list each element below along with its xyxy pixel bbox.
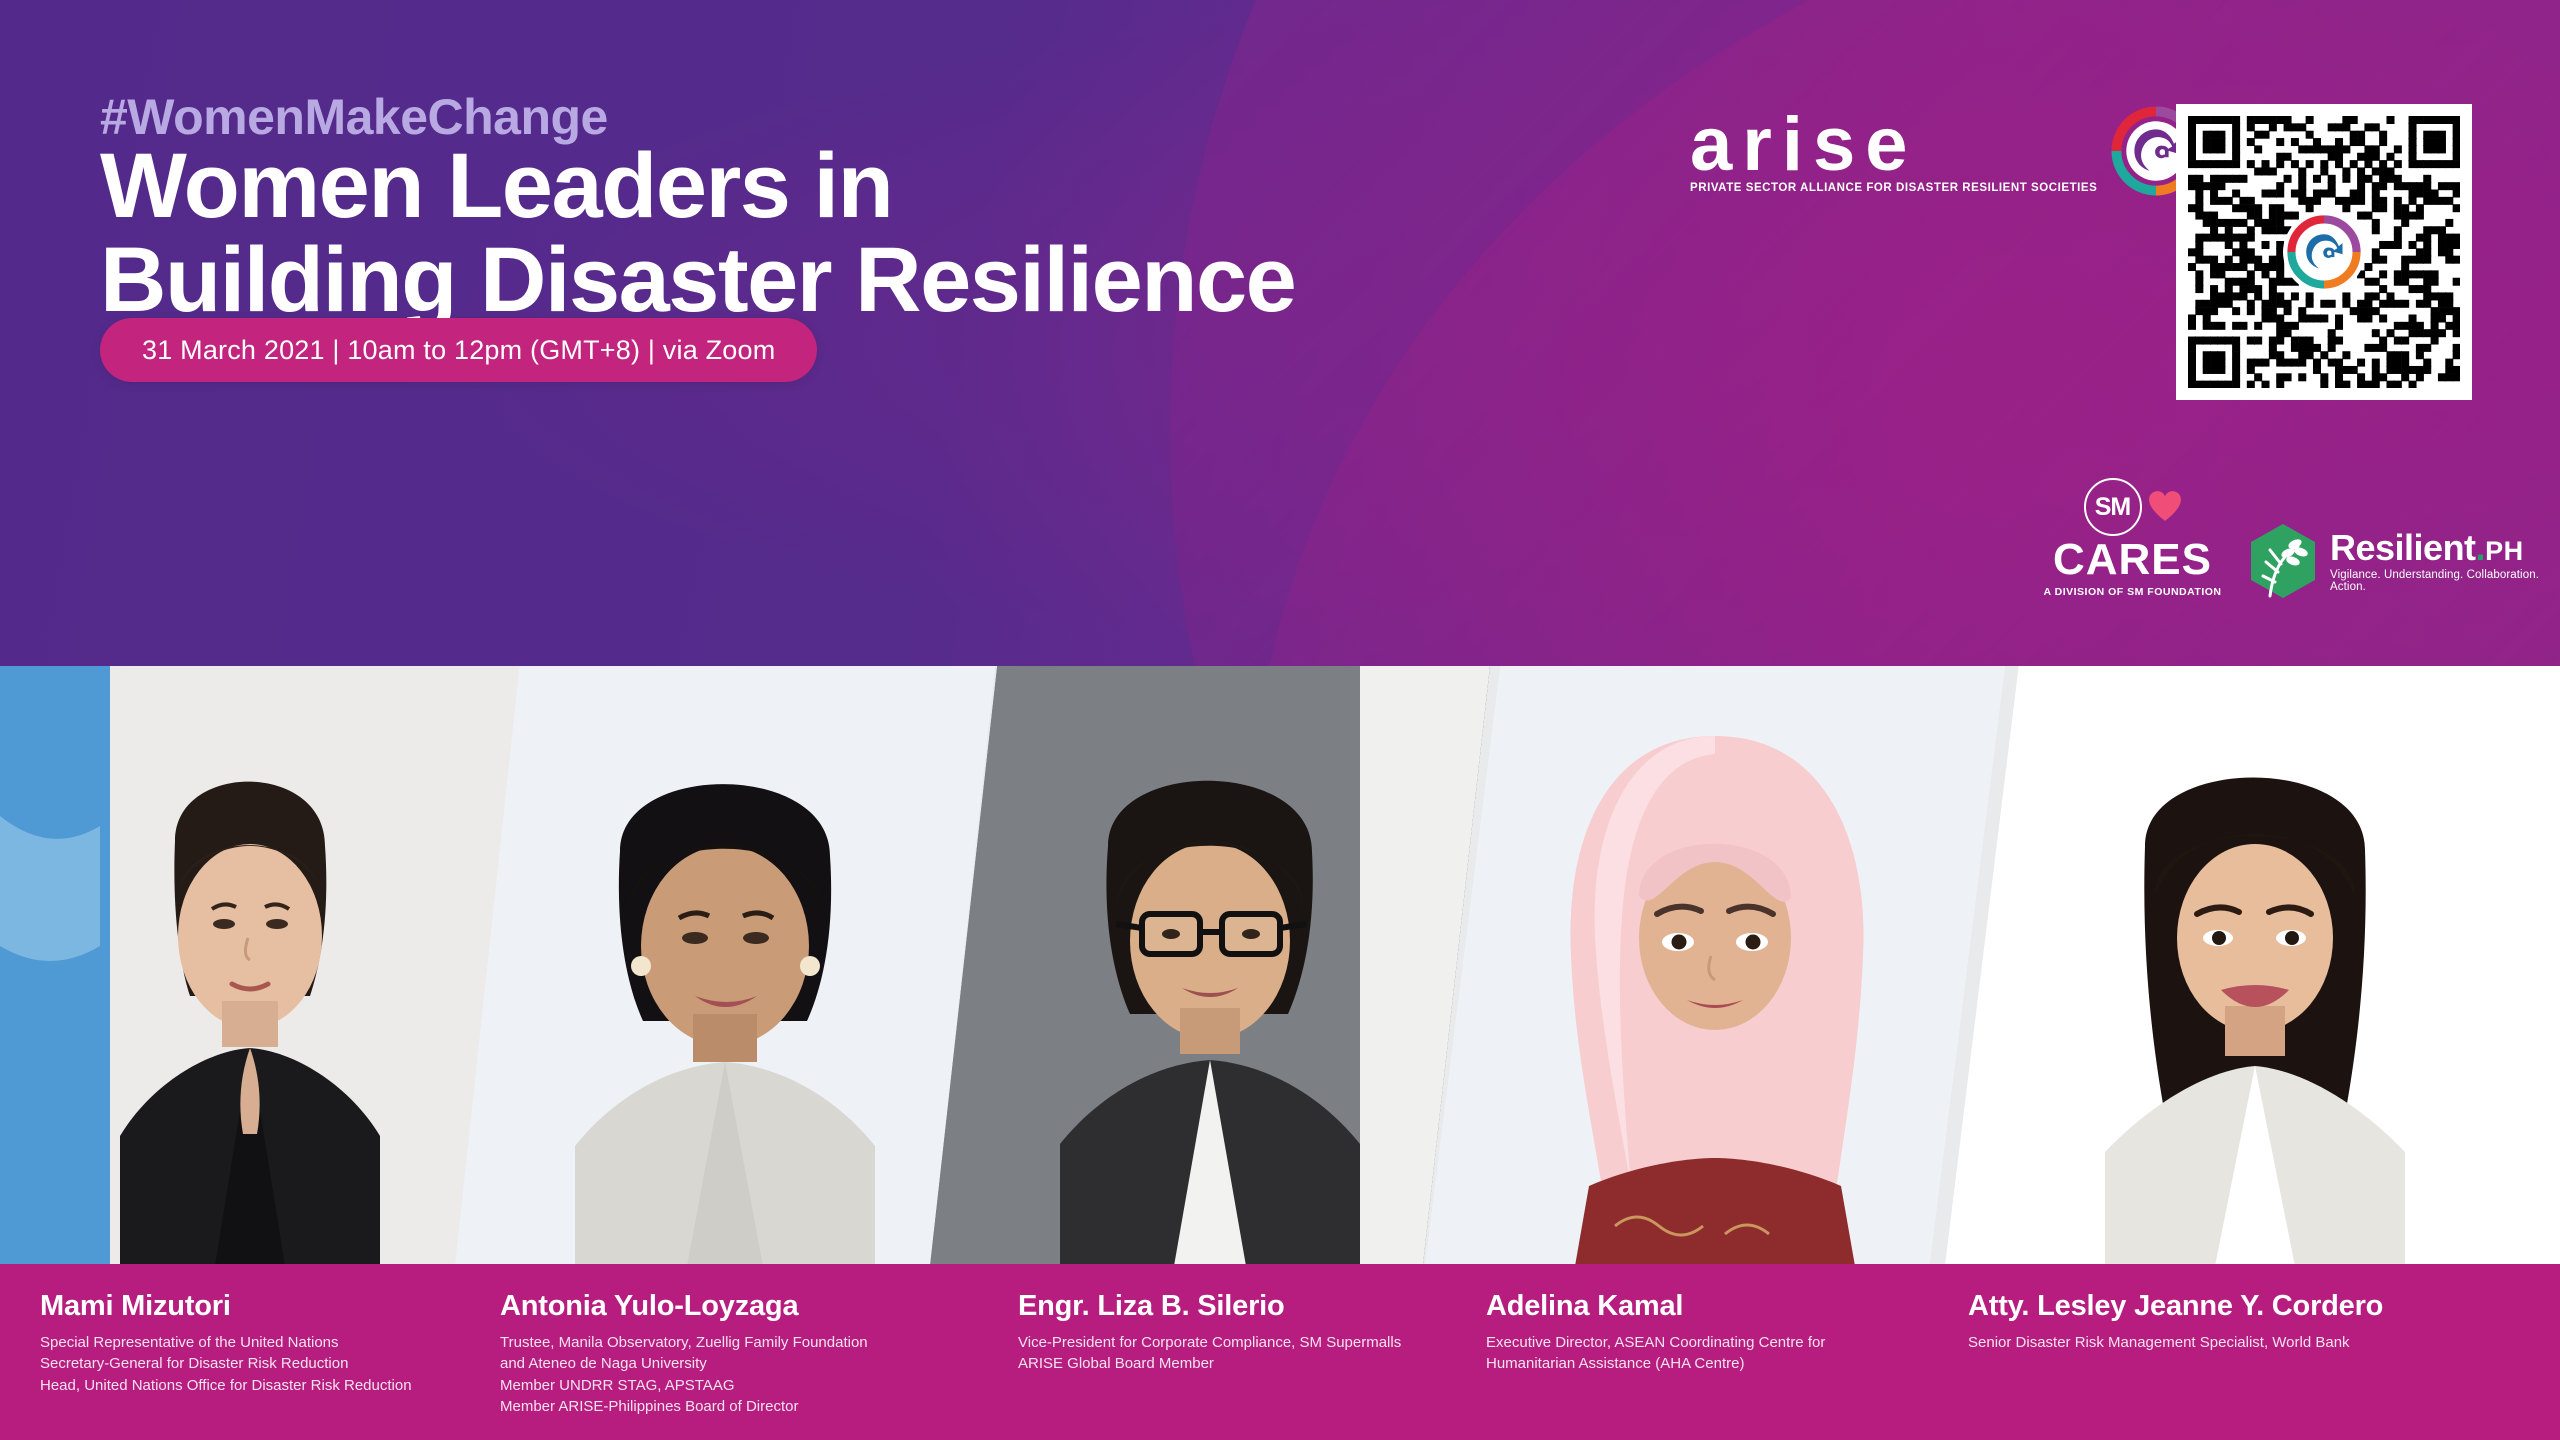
speaker-name: Antonia Yulo-Loyzaga (500, 1290, 950, 1323)
sm-monogram: SM (2084, 478, 2142, 536)
arise-tagline: PRIVATE SECTOR ALLIANCE FOR DISASTER RES… (1690, 182, 2097, 194)
speaker-photo-2 (455, 666, 995, 1266)
speaker-block-2: Antonia Yulo-Loyzaga Trustee, Manila Obs… (500, 1290, 950, 1417)
speaker-title-line: Special Representative of the United Nat… (40, 1332, 480, 1353)
title-line-2: Building Disaster Resilience (100, 234, 1295, 328)
speaker-title: Special Representative of the United Nat… (40, 1332, 480, 1396)
speaker-photo-1 (0, 666, 520, 1266)
speaker-title-line: Head, United Nations Office for Disaster… (40, 1375, 480, 1396)
speaker-block-5: Atty. Lesley Jeanne Y. Cordero Senior Di… (1968, 1290, 2528, 1353)
speaker-title: Trustee, Manila Observatory, Zuellig Fam… (500, 1332, 950, 1417)
hexagon-tree-icon (2248, 522, 2318, 600)
speaker-block-3: Engr. Liza B. Silerio Vice-President for… (1018, 1290, 1478, 1375)
resilient-dot: . (2476, 527, 2486, 568)
speaker-title-line: Executive Director, ASEAN Coordinating C… (1486, 1332, 1906, 1353)
poster-header: #WomenMakeChange Women Leaders in Buildi… (0, 0, 2560, 666)
speaker-photo-strip (0, 666, 2560, 1266)
speaker-title-line: Vice-President for Corporate Compliance,… (1018, 1332, 1478, 1353)
sm-cares-logo: SM CARES A DIVISION OF SM FOUNDATION (2040, 478, 2225, 598)
speaker-name: Atty. Lesley Jeanne Y. Cordero (1968, 1290, 2528, 1323)
qr-center-logo (2283, 211, 2365, 293)
speaker-title: Senior Disaster Risk Management Speciali… (1968, 1332, 2528, 1353)
resilient-ph-logo: Resilient.PH Vigilance. Understanding. C… (2248, 522, 2560, 600)
speaker-title-line: Member UNDRR STAG, APSTAAG (500, 1375, 950, 1396)
speaker-name: Adelina Kamal (1486, 1290, 1906, 1323)
arise-logo-text: arise (1690, 110, 2097, 180)
speaker-title-line: Senior Disaster Risk Management Speciali… (1968, 1332, 2528, 1353)
event-poster: #WomenMakeChange Women Leaders in Buildi… (0, 0, 2560, 1440)
speaker-title-line: ARISE Global Board Member (1018, 1353, 1478, 1374)
speaker-name-bar: Mami Mizutori Special Representative of … (0, 1264, 2560, 1440)
arise-wordmark: arise PRIVATE SECTOR ALLIANCE FOR DISAST… (1690, 100, 2097, 194)
sm-cares-subline: A DIVISION OF SM FOUNDATION (2040, 586, 2225, 598)
speaker-title: Vice-President for Corporate Compliance,… (1018, 1332, 1478, 1375)
resilient-ph-name: Resilient.PH (2330, 530, 2560, 566)
speaker-photo-3 (930, 666, 1490, 1266)
speaker-title-line: Humanitarian Assistance (AHA Centre) (1486, 1353, 1906, 1374)
resilient-ph-suffix: PH (2485, 536, 2524, 566)
speaker-title-line: Secretary-General for Disaster Risk Redu… (40, 1353, 480, 1374)
event-details-pill: 31 March 2021 | 10am to 12pm (GMT+8) | v… (100, 318, 817, 382)
speaker-photo-4 (1425, 666, 2005, 1266)
speaker-title-line: Trustee, Manila Observatory, Zuellig Fam… (500, 1332, 950, 1353)
sm-cares-word: CARES (2040, 538, 2225, 582)
speaker-block-1: Mami Mizutori Special Representative of … (40, 1290, 480, 1396)
resilient-ph-tagline: Vigilance. Understanding. Collaboration.… (2330, 569, 2560, 593)
speaker-name: Engr. Liza B. Silerio (1018, 1290, 1478, 1323)
qr-code-icon[interactable] (2176, 104, 2472, 400)
heart-icon (2148, 490, 2182, 524)
speaker-name: Mami Mizutori (40, 1290, 480, 1323)
speaker-title-line: Member ARISE-Philippines Board of Direct… (500, 1396, 950, 1417)
speaker-photo-5 (1945, 666, 2560, 1266)
title-line-1: Women Leaders in (100, 135, 892, 237)
resilient-word: Resilient (2330, 527, 2476, 568)
speaker-title: Executive Director, ASEAN Coordinating C… (1486, 1332, 1906, 1375)
speaker-title-line: and Ateneo de Naga University (500, 1353, 950, 1374)
speaker-block-4: Adelina Kamal Executive Director, ASEAN … (1486, 1290, 1906, 1375)
page-title: Women Leaders in Building Disaster Resil… (100, 140, 1295, 328)
arise-logo: arise PRIVATE SECTOR ALLIANCE FOR DISAST… (1690, 100, 2201, 196)
